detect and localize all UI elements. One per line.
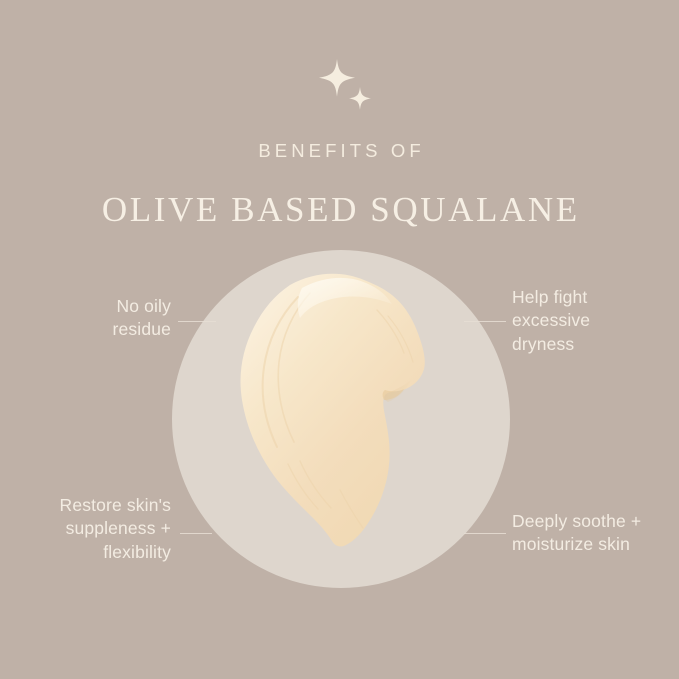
sparkle-large-icon	[319, 59, 355, 97]
swatch-body	[241, 274, 425, 547]
connector-line-bottom-left	[180, 533, 212, 534]
infographic-canvas: BENEFITS OF OLIVE BASED SQUALANE	[0, 0, 679, 679]
benefit-label-help-fight-excessive-dryness: Help fight excessive dryness	[512, 286, 672, 356]
benefit-label-deeply-soothe-moisturize-skin: Deeply soothe + moisturize skin	[512, 510, 678, 557]
connector-line-top-left	[178, 321, 216, 322]
eyebrow-heading: BENEFITS OF	[0, 140, 679, 162]
sparkle-decoration	[314, 58, 378, 116]
page-title: OLIVE BASED SQUALANE	[0, 188, 679, 232]
connector-line-top-right	[464, 321, 506, 322]
sparkle-small-icon	[349, 87, 371, 110]
cream-swatch	[172, 250, 510, 588]
benefit-label-no-oily-residue: No oily residue	[26, 295, 171, 342]
benefit-label-restore-skins-suppleness-flexibility: Restore skin's suppleness + flexibility	[8, 494, 171, 564]
connector-line-bottom-right	[464, 533, 506, 534]
